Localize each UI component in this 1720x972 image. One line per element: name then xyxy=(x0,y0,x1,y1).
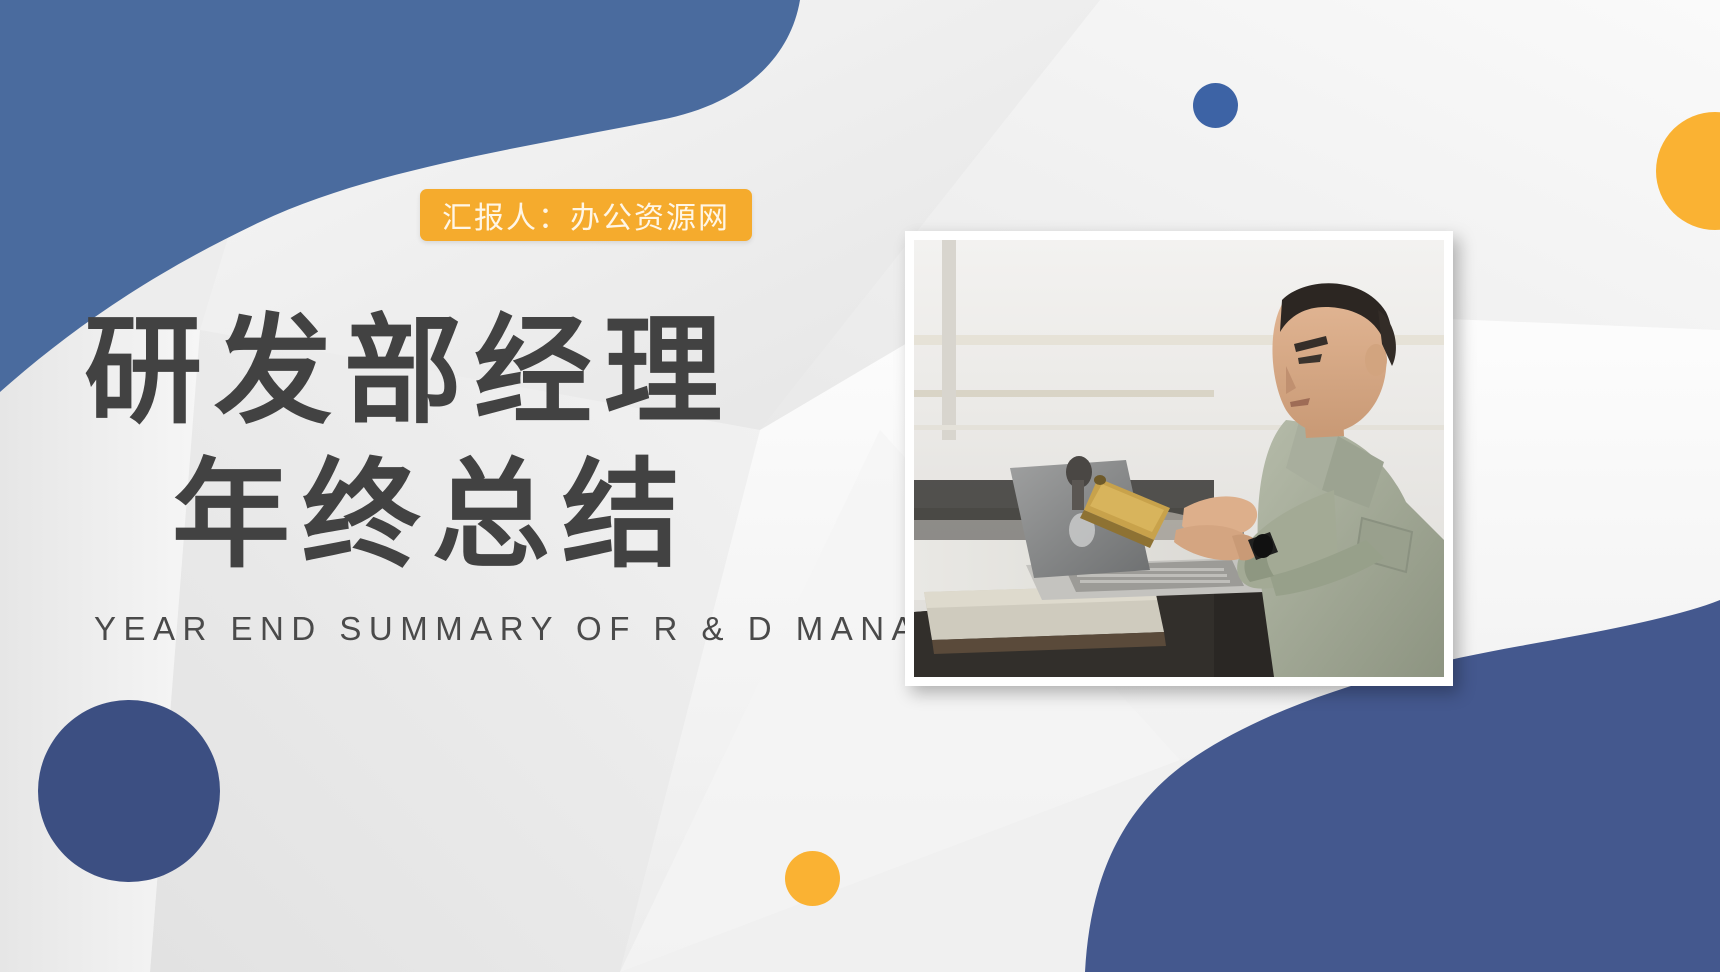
circle-blue-large xyxy=(38,700,220,882)
circle-orange-small xyxy=(785,851,840,906)
circle-blue-small xyxy=(1193,83,1238,128)
presenter-badge: 汇报人：办公资源网 xyxy=(420,189,752,241)
title-block: 研发部经理 年终总结 YEAR END SUMMARY OF R & D MAN… xyxy=(80,300,900,648)
presentation-cover-slide: 汇报人：办公资源网 研发部经理 年终总结 YEAR END SUMMARY OF… xyxy=(0,0,1720,972)
cover-photo-frame xyxy=(905,231,1453,686)
page-subtitle: YEAR END SUMMARY OF R & D MANAGER xyxy=(94,610,900,648)
cover-photo xyxy=(914,240,1444,677)
page-title-line-2: 年终总结 xyxy=(172,444,900,588)
page-title-line-1: 研发部经理 xyxy=(84,300,900,444)
presenter-badge-label: 汇报人：办公资源网 xyxy=(442,193,730,237)
